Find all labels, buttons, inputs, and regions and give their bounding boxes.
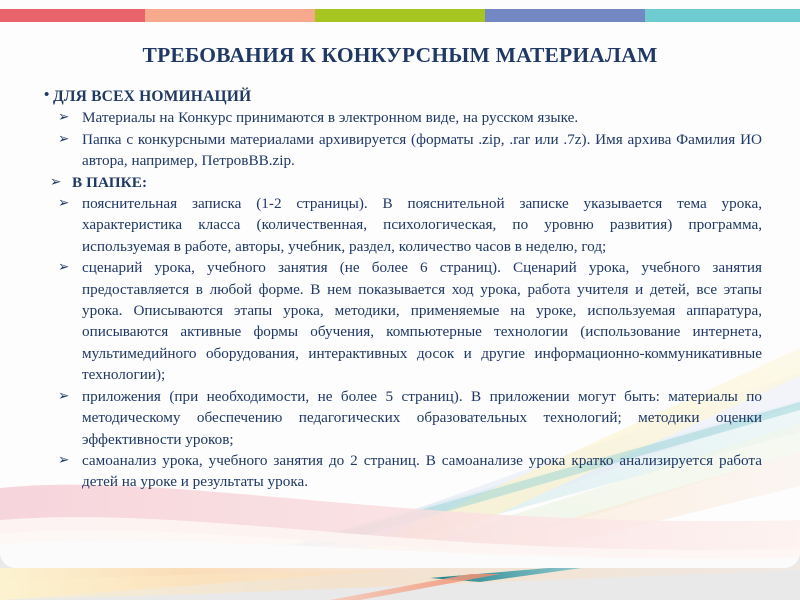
list-item-text: ДЛЯ ВСЕХ НОМИНАЦИЙ [53, 88, 251, 105]
color-segment-red [0, 9, 145, 22]
color-segment-teal [645, 9, 800, 22]
page-title: ТРЕБОВАНИЯ К КОНКУРСНЫМ МАТЕРИАЛАМ [40, 43, 760, 68]
presentation-slide: ТРЕБОВАНИЯ К КОНКУРСНЫМ МАТЕРИАЛАМ •ДЛЯ … [0, 0, 800, 600]
list-item: ➢Материалы на Конкурс принимаются в элек… [44, 107, 762, 128]
arrow-bullet-icon: ➢ [58, 450, 69, 471]
color-segment-peach [145, 9, 315, 22]
color-segment-blue [485, 9, 645, 22]
arrow-bullet-icon: ➢ [58, 257, 69, 278]
list-item: ➢В ПАПКЕ: [44, 172, 762, 193]
list-item-text: сценарий урока, учебного занятия (не бол… [82, 259, 762, 383]
arrow-bullet-icon: ➢ [58, 386, 69, 407]
arrow-bullet-icon: ➢ [58, 129, 69, 150]
arrow-bullet-icon: ➢ [58, 107, 69, 128]
list-item-text: самоанализ урока, учебного занятия до 2 … [82, 452, 762, 490]
list-item-text: Папка с конкурсными материалами архивиру… [82, 131, 762, 169]
list-item-text: пояснительная записка (1-2 страницы). В … [82, 195, 762, 255]
list-item: ➢самоанализ урока, учебного занятия до 2… [44, 450, 762, 493]
arrow-bullet-icon: ➢ [58, 193, 69, 214]
top-color-bar [0, 9, 800, 22]
list-item-text: приложения (при необходимости, не более … [82, 388, 762, 448]
color-segment-green [315, 9, 485, 22]
arrow-bullet-icon: ➢ [50, 172, 61, 193]
bullet-list: •ДЛЯ ВСЕХ НОМИНАЦИЙ ➢Материалы на Конкур… [44, 86, 762, 493]
slide-canvas: ТРЕБОВАНИЯ К КОНКУРСНЫМ МАТЕРИАЛАМ •ДЛЯ … [0, 0, 800, 568]
list-item: ➢пояснительная записка (1-2 страницы). В… [44, 193, 762, 257]
list-item: ➢приложения (при необходимости, не более… [44, 386, 762, 450]
list-item-text: Материалы на Конкурс принимаются в элект… [82, 109, 578, 126]
slide-content: ТРЕБОВАНИЯ К КОНКУРСНЫМ МАТЕРИАЛАМ •ДЛЯ … [0, 0, 800, 568]
list-item-text: В ПАПКЕ: [72, 174, 147, 191]
list-item: ➢сценарий урока, учебного занятия (не бо… [44, 257, 762, 385]
dot-bullet-icon: • [44, 85, 49, 106]
list-item: •ДЛЯ ВСЕХ НОМИНАЦИЙ [44, 86, 762, 107]
list-item: ➢Папка с конкурсными материалами архивир… [44, 129, 762, 172]
